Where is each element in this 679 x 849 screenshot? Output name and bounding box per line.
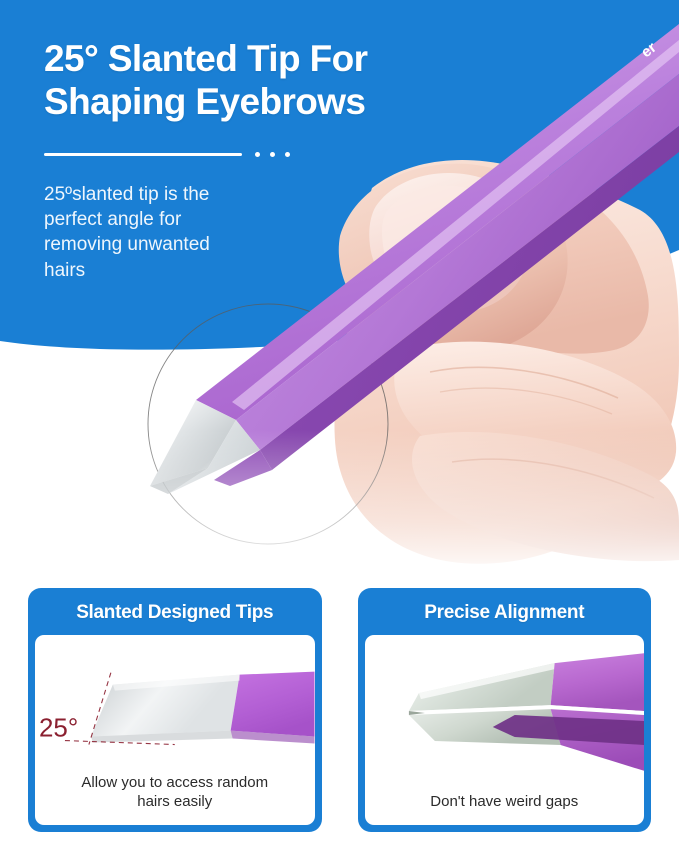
card-caption: Allow you to access random hairs easily <box>35 774 315 825</box>
slanted-tip-angle-diagram: 25° <box>35 635 315 774</box>
feature-card-precise-alignment: Precise Alignment <box>358 588 652 832</box>
hero-subtext: 25ºslanted tip is the perfect angle for … <box>44 182 312 283</box>
hero-text-block: 25° Slanted Tip For Shaping Eyebrows 25º… <box>0 0 400 330</box>
angle-label: 25° <box>39 715 78 743</box>
divider-dot <box>255 152 260 157</box>
divider-dot <box>285 152 290 157</box>
divider-line <box>44 153 242 156</box>
divider-dots <box>255 152 290 157</box>
card-body: 25° Allow you to access random hairs eas… <box>35 635 315 825</box>
card-title: Precise Alignment <box>365 596 645 635</box>
page-title: 25° Slanted Tip For Shaping Eyebrows <box>44 38 400 124</box>
divider-dot <box>270 152 275 157</box>
feature-card-slanted-tips: Slanted Designed Tips <box>28 588 322 832</box>
card-caption: Don't have weird gaps <box>365 793 645 825</box>
product-feature-graphic: er 25° Slanted Tip For Shaping Eyebrows … <box>0 0 679 849</box>
aligned-tweezer-tips-diagram <box>365 635 645 793</box>
feature-cards: Slanted Designed Tips <box>0 588 679 838</box>
divider <box>44 152 306 157</box>
card-title: Slanted Designed Tips <box>35 596 315 635</box>
card-body: Don't have weird gaps <box>365 635 645 825</box>
